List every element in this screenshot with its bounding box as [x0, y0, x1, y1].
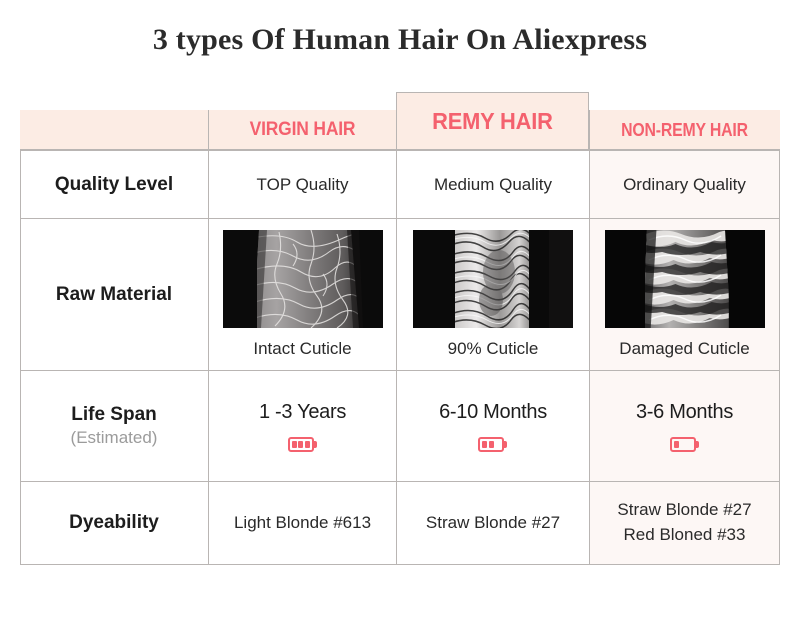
row-label-dyeability-text: Dyeability	[69, 512, 159, 534]
cell-dye-non-remy: Straw Blonde #27 Red Bloned #33	[590, 482, 779, 564]
page-title: 3 types Of Human Hair On Aliexpress	[0, 23, 800, 57]
cell-dye-virgin: Light Blonde #613	[209, 482, 396, 564]
cell-raw-virgin-caption: Intact Cuticle	[253, 339, 351, 359]
cell-life-non-remy: 3-6 Months	[590, 371, 779, 481]
hair-cuticle-intact-micrograph	[223, 230, 383, 328]
row-label-dyeability: Dyeability	[20, 482, 208, 564]
cell-dye-non-remy-line-1: Straw Blonde #27	[617, 498, 751, 523]
battery-terminal	[504, 441, 507, 448]
cell-life-remy-text: 6-10 Months	[439, 401, 547, 424]
column-header-virgin-label: VIRGIN HAIR	[250, 119, 356, 141]
cell-dye-remy-line-1: Straw Blonde #27	[426, 511, 560, 536]
cell-quality-virgin: TOP Quality	[209, 151, 396, 218]
column-header-remy-highlight: REMY HAIR	[396, 92, 589, 150]
cell-raw-virgin: Intact Cuticle	[209, 219, 396, 370]
battery-segment	[292, 441, 297, 448]
cell-life-virgin: 1 -3 Years	[209, 371, 396, 481]
battery-icon-full	[288, 437, 318, 452]
row-label-raw-material: Raw Material	[20, 219, 208, 370]
cell-life-remy: 6-10 Months	[397, 371, 589, 481]
cell-quality-virgin-text: TOP Quality	[257, 175, 349, 195]
battery-icon-one-third	[670, 437, 700, 452]
cell-quality-remy-text: Medium Quality	[434, 175, 552, 195]
cell-quality-non-remy: Ordinary Quality	[590, 151, 779, 218]
column-header-virgin: VIRGIN HAIR	[216, 110, 388, 150]
battery-terminal	[314, 441, 317, 448]
battery-segment	[674, 441, 679, 448]
battery-segment	[489, 441, 494, 448]
cell-life-non-remy-text: 3-6 Months	[636, 401, 733, 424]
cell-quality-remy: Medium Quality	[397, 151, 589, 218]
cell-raw-remy-caption: 90% Cuticle	[448, 339, 539, 359]
comparison-table: VIRGIN HAIR REMY HAIR NON-REMY HAIR Qual…	[20, 110, 780, 565]
row-label-quality-level: Quality Level	[20, 151, 208, 218]
battery-segment-empty	[687, 441, 692, 448]
cell-raw-non-remy-caption: Damaged Cuticle	[619, 339, 749, 359]
battery-terminal	[696, 441, 699, 448]
cell-life-virgin-text: 1 -3 Years	[259, 401, 346, 424]
row-label-life-span: Life Span (Estimated)	[20, 371, 208, 481]
row-label-life-span-sublabel: (Estimated)	[71, 428, 158, 448]
cell-dye-remy: Straw Blonde #27	[397, 482, 589, 564]
cell-dye-virgin-line-1: Light Blonde #613	[234, 511, 371, 536]
column-header-non-remy: NON-REMY HAIR	[601, 110, 767, 150]
cell-raw-non-remy: Damaged Cuticle	[590, 219, 779, 370]
row-label-raw-material-text: Raw Material	[56, 284, 172, 306]
column-header-non-remy-label: NON-REMY HAIR	[621, 120, 748, 141]
infographic-page: 3 types Of Human Hair On Aliexpress VIRG…	[0, 0, 800, 617]
hair-cuticle-damaged-micrograph	[605, 230, 765, 328]
battery-segment-empty	[495, 441, 500, 448]
cell-raw-remy: 90% Cuticle	[397, 219, 589, 370]
row-label-quality-level-text: Quality Level	[55, 174, 173, 196]
battery-segment	[305, 441, 310, 448]
battery-icon-two-thirds	[478, 437, 508, 452]
battery-segment	[298, 441, 303, 448]
row-label-life-span-text: Life Span	[71, 404, 157, 426]
cell-quality-non-remy-text: Ordinary Quality	[623, 175, 746, 195]
battery-segment	[482, 441, 487, 448]
cell-dye-non-remy-line-2: Red Bloned #33	[624, 523, 746, 548]
column-header-remy-label: REMY HAIR	[432, 108, 553, 135]
hair-cuticle-90-micrograph	[413, 230, 573, 328]
battery-segment-empty	[680, 441, 685, 448]
